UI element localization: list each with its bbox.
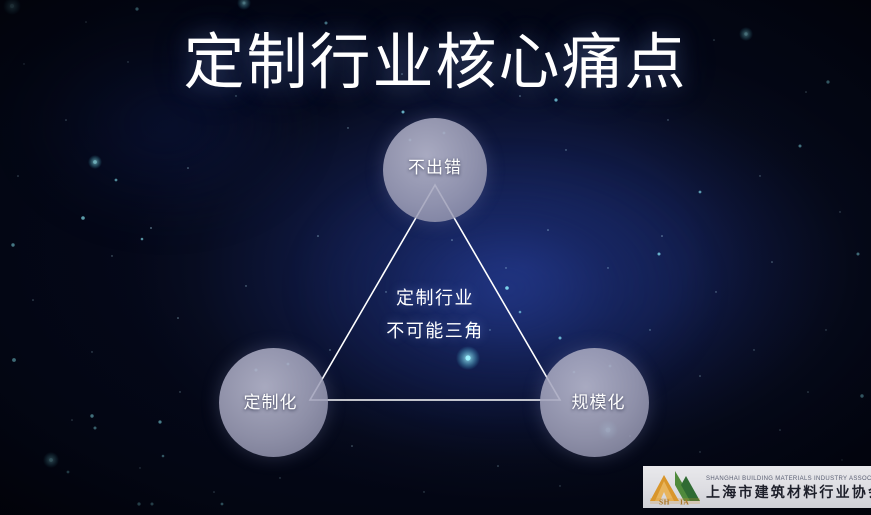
presentation-slide: 不出错 定制化 规模化 定制行业 不可能三角 定制行业核心痛点 SH IA SH… [0,0,871,515]
center-caption-line-2: 不可能三角 [335,315,535,348]
mountain-logo-icon: SH IA [648,467,702,507]
triangle-node-top[interactable]: 不出错 [383,118,487,222]
triangle-node-left[interactable]: 定制化 [219,348,328,457]
slide-title: 定制行业核心痛点 [0,12,871,101]
triangle-node-right[interactable]: 规模化 [540,348,649,457]
svg-text:SH: SH [659,498,670,507]
center-caption-line-1: 定制行业 [335,282,535,315]
triangle-center-caption: 定制行业 不可能三角 [335,282,535,348]
association-logo: SH IA SHANGHAI BUILDING MATERIALS INDUST… [643,466,871,508]
logo-chinese-name: 上海市建筑材料行业协会 [706,485,871,499]
node-label-top: 不出错 [408,153,462,178]
svg-text:IA: IA [680,498,689,507]
logo-english-name: SHANGHAI BUILDING MATERIALS INDUSTRY ASS… [706,475,871,481]
node-label-left: 定制化 [244,388,298,413]
logo-text-block: SHANGHAI BUILDING MATERIALS INDUSTRY ASS… [706,476,871,499]
node-label-right: 规模化 [572,388,626,413]
